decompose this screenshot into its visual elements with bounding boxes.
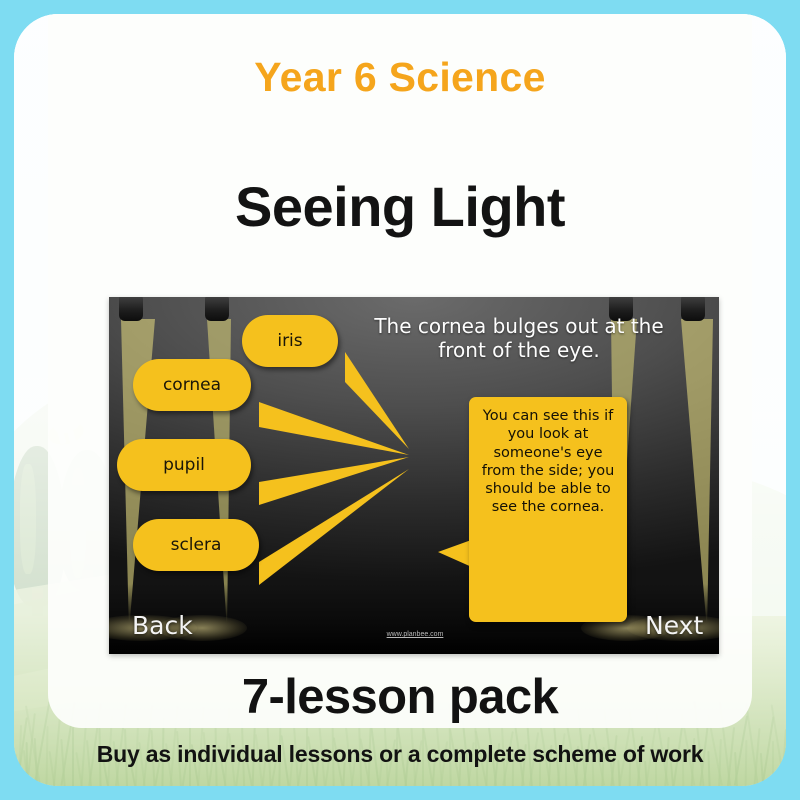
back-button[interactable]: Back xyxy=(132,611,193,640)
pack-subtitle: Buy as individual lessons or a complete … xyxy=(14,741,786,768)
slide-sentence: The cornea bulges out at the front of th… xyxy=(366,314,672,363)
explanation-card: You can see this if you look at someone'… xyxy=(469,397,627,622)
label-iris-text: iris xyxy=(277,331,302,351)
subject-kicker: Year 6 Science xyxy=(14,54,786,101)
label-sclera[interactable]: sclera xyxy=(133,519,259,571)
watermark-link[interactable]: www.planbee.com xyxy=(370,631,460,638)
label-sclera-text: sclera xyxy=(171,535,222,555)
label-pupil-text: pupil xyxy=(163,455,205,475)
page-title: Seeing Light xyxy=(14,174,786,239)
label-cornea-text: cornea xyxy=(163,375,221,395)
pack-headline: 7-lesson pack xyxy=(14,669,786,725)
poster-card: Year 6 Science Seeing Light xyxy=(14,14,786,786)
poster-canvas: Year 6 Science Seeing Light xyxy=(0,0,800,800)
label-cornea[interactable]: cornea xyxy=(133,359,251,411)
label-iris[interactable]: iris xyxy=(242,315,338,367)
next-button[interactable]: Next xyxy=(645,611,703,640)
label-pupil[interactable]: pupil xyxy=(117,439,251,491)
